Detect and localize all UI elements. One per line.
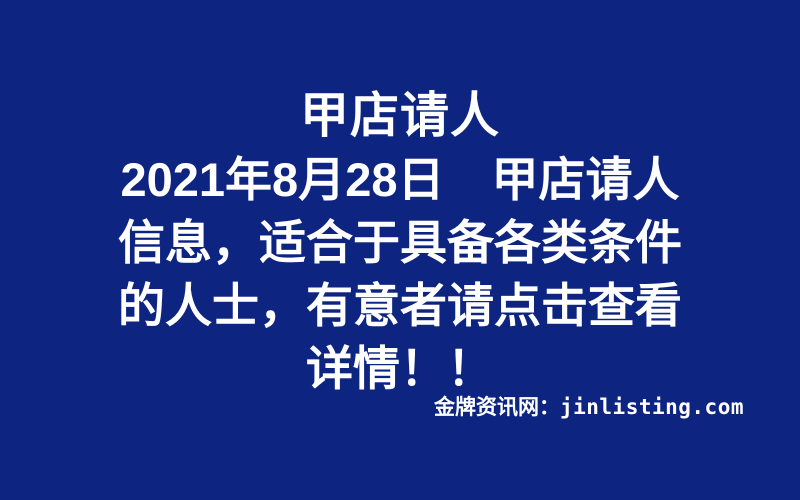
watermark-site-url: jinlisting.com: [560, 395, 744, 419]
body-line-4: 详情！！: [100, 337, 700, 400]
body-line-2: 信息，适合于具备各类条件: [100, 211, 700, 274]
site-watermark: 金牌资讯网：jinlisting.com: [434, 394, 744, 421]
watermark-block: 金牌资讯网：jinlisting.com: [0, 394, 800, 421]
watermark-site-name: 金牌资讯网：: [434, 396, 560, 419]
body-line-1: 2021年8月28日 甲店请人: [100, 148, 700, 211]
body-line-3: 的人士，有意者请点击查看: [100, 274, 700, 337]
page-title: 甲店请人: [300, 87, 500, 145]
poster-canvas: 甲店请人 2021年8月28日 甲店请人 信息，适合于具备各类条件 的人士，有意…: [0, 0, 800, 500]
poster-body-text: 2021年8月28日 甲店请人 信息，适合于具备各类条件 的人士，有意者请点击查…: [100, 148, 700, 400]
